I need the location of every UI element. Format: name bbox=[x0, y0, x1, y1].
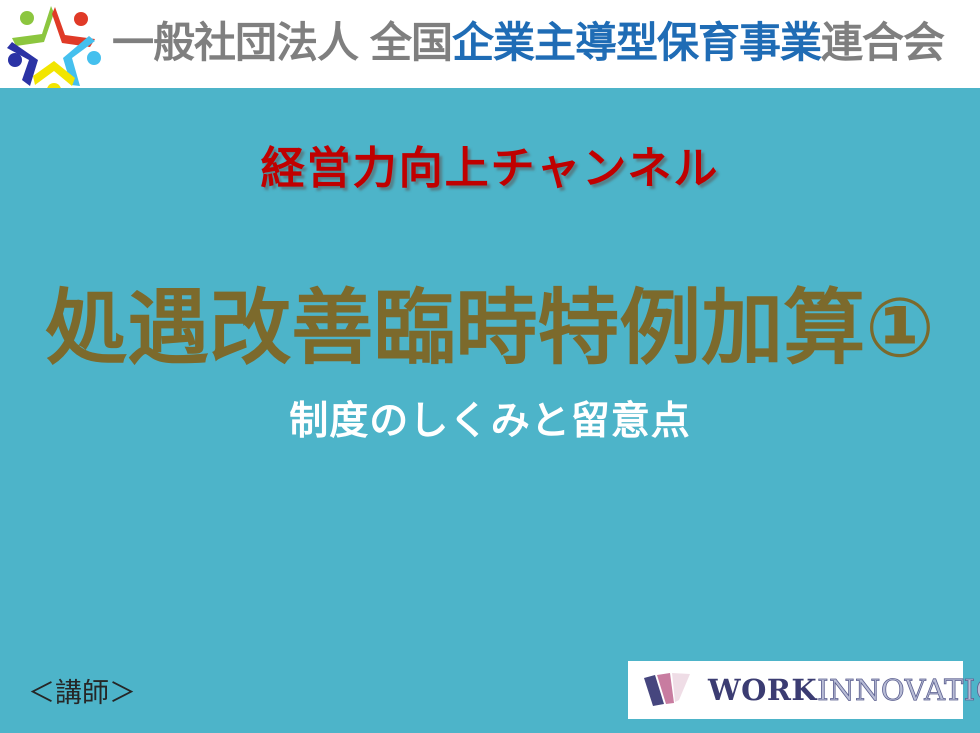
presentation-slide: 一般社団法人 全国 企業主導型保育事業 連合会 経営力向上チャンネル 処遇改善臨… bbox=[0, 0, 980, 733]
company-logo-word-secondary: INNOVATION bbox=[817, 673, 980, 707]
company-logo-wordmark: WORKINNOVATION bbox=[708, 676, 980, 705]
slide-header-band: 一般社団法人 全国 企業主導型保育事業 連合会 bbox=[0, 0, 980, 88]
five-people-star-logo-icon bbox=[2, 0, 106, 90]
presenter-role-label: ＜講師＞ bbox=[28, 677, 567, 712]
channel-title: 経営力向上チャンネル bbox=[0, 147, 980, 191]
association-name-part-1: 一般社団法人 bbox=[112, 22, 358, 64]
sub-title: 制度のしくみと留意点 bbox=[0, 402, 980, 441]
work-innovation-mark-icon bbox=[642, 673, 698, 707]
association-name-part-2: 全国 bbox=[370, 22, 452, 64]
company-logo-box: WORKINNOVATION bbox=[628, 661, 963, 719]
main-title: 処遇改善臨時特例加算① bbox=[0, 288, 980, 370]
association-name-part-3: 連合会 bbox=[821, 22, 944, 64]
association-name: 一般社団法人 全国 企業主導型保育事業 連合会 bbox=[112, 12, 978, 74]
company-logo-word-primary: WORK bbox=[708, 673, 817, 707]
association-name-part-highlight: 企業主導型保育事業 bbox=[452, 22, 821, 64]
presenter-block: ＜講師＞ 社会保険労務士法人ワーク・イノベーション 代表 菊地加奈子 bbox=[28, 608, 567, 733]
